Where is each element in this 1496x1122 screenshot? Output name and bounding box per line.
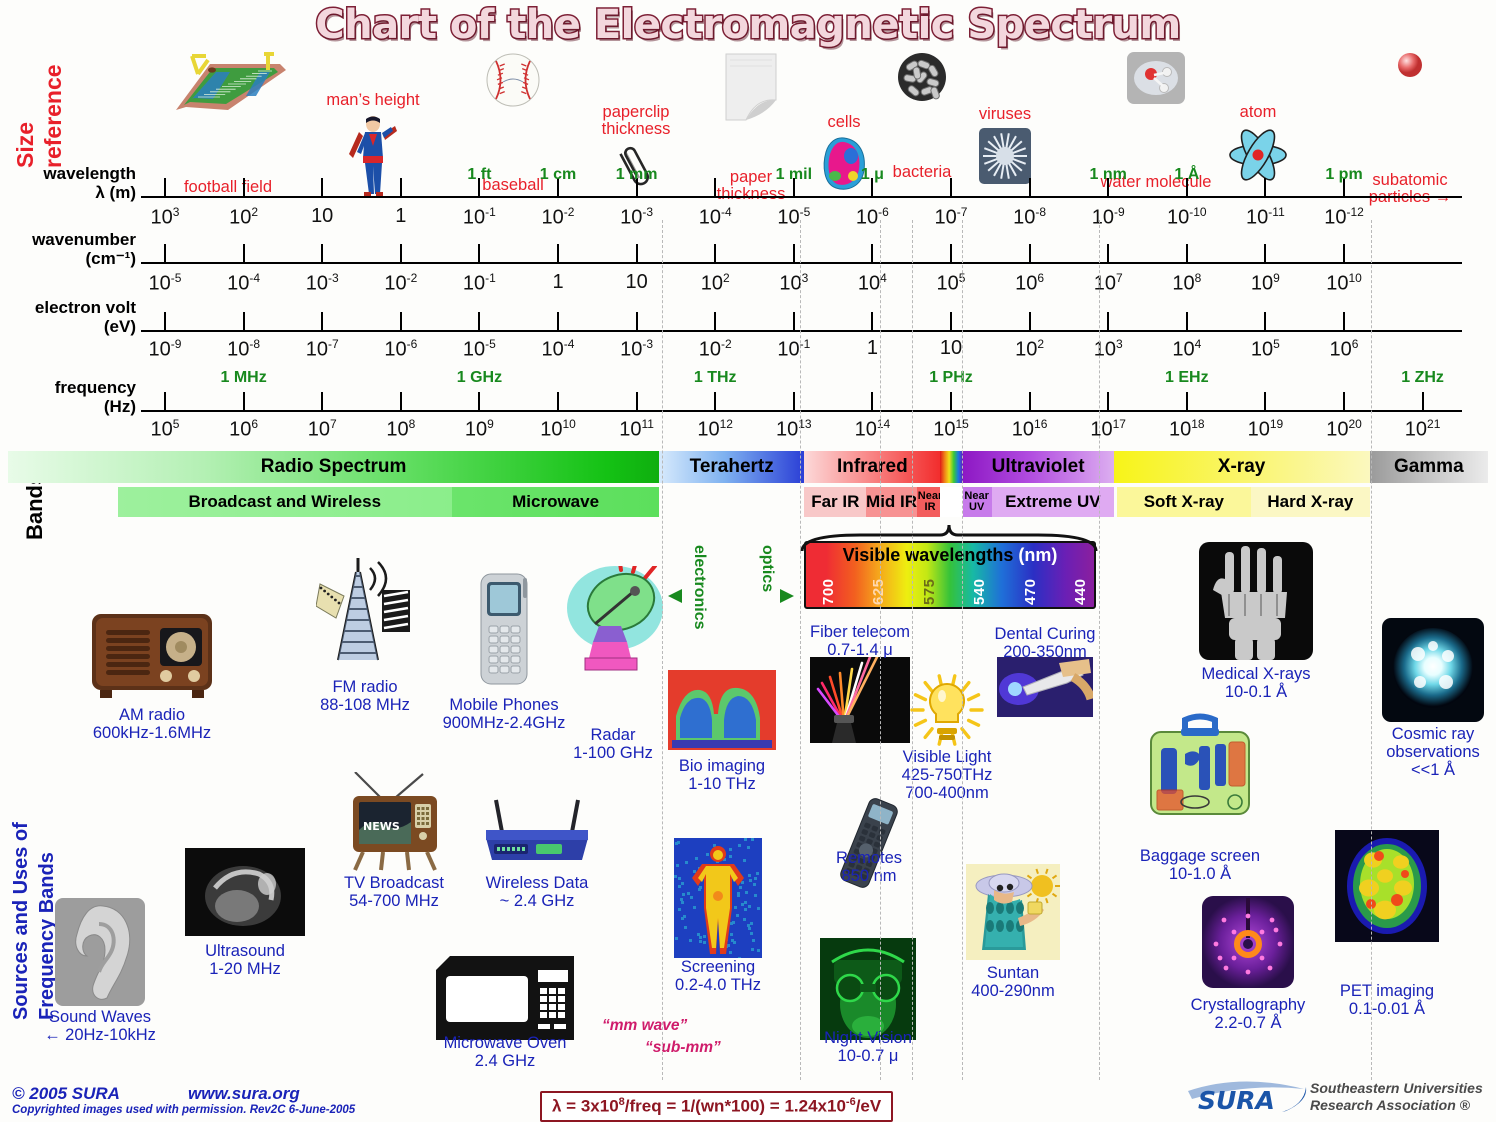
- band-boundary-dashed-line: [1099, 220, 1100, 1080]
- axis-tick: [636, 312, 638, 330]
- axis-tick-label: 10-3: [306, 271, 339, 296]
- band-far-ir[interactable]: Far IR: [804, 487, 866, 517]
- axis-tick-label: 1018: [1169, 417, 1205, 442]
- axis-tick: [1107, 392, 1109, 410]
- axis-tick-label: 10-1: [777, 337, 810, 362]
- axis-tick: [400, 392, 402, 410]
- bacteria-icon: [897, 52, 947, 107]
- vintage-radio-icon: [88, 604, 216, 707]
- axis-tick-label: 10: [940, 337, 962, 360]
- axis-tick-label: 10-8: [1013, 205, 1046, 230]
- sura-logo-text: Southeastern Universities Research Assoc…: [1310, 1080, 1483, 1114]
- axis-tick-label: 10-4: [699, 205, 732, 230]
- axis-tick: [1029, 244, 1031, 262]
- axis-tick: [1107, 244, 1109, 262]
- sura-logo-line1: Southeastern Universities: [1310, 1080, 1483, 1097]
- axis-tick-label: 10: [625, 271, 647, 294]
- size-reference-row: football fieldman’s heightbaseballpaperc…: [0, 44, 1496, 169]
- band-boundary-dashed-line: [912, 220, 913, 1080]
- axis-tick-label: 10-12: [1324, 205, 1364, 230]
- cosmic-burst-icon: [1382, 618, 1484, 727]
- water-molecule-icon: [1127, 52, 1185, 109]
- source-caption: AM radio600kHz-1.6MHz: [42, 706, 262, 742]
- axis-tick-label: 1010: [540, 417, 576, 442]
- television-icon: NEWS: [335, 772, 453, 877]
- satellite-dish-icon: [559, 566, 667, 681]
- axis-tick-label: 10-9: [1092, 205, 1125, 230]
- source-caption: PET imaging0.1-0.01 Å: [1277, 982, 1496, 1018]
- flip-phone-icon: [467, 572, 541, 693]
- annotation-sub-mm: “sub-mm”: [645, 1039, 721, 1057]
- size-reference-caption: atom: [1168, 104, 1348, 121]
- axis-tick-label: 1010: [1326, 271, 1362, 296]
- band-near-ir[interactable]: Near IR: [917, 487, 944, 517]
- unit-marker-1mil: 1 mil: [776, 166, 812, 184]
- band-radio-spectrum[interactable]: Radio Spectrum: [8, 451, 659, 483]
- band-gamma[interactable]: Gamma: [1370, 451, 1488, 483]
- axis-tick: [950, 392, 952, 410]
- axis-tick-label: 1016: [1012, 417, 1048, 442]
- axis-tick-label: 1015: [933, 417, 969, 442]
- band-extreme-uv[interactable]: Extreme UV: [992, 487, 1113, 517]
- band-hard-x-ray[interactable]: Hard X-ray: [1251, 487, 1369, 517]
- axis-tick-label: 105: [151, 417, 180, 442]
- svg-text:SURA: SURA: [1198, 1086, 1275, 1115]
- axis-tick-label: 10-3: [620, 337, 653, 362]
- unit-marker-1mhz: 1 MHz: [220, 369, 266, 387]
- axis-tick: [793, 392, 795, 410]
- source-caption: Medical X-rays10-0.1 Å: [1146, 665, 1366, 701]
- sunbather-icon: [966, 864, 1060, 965]
- axis-tick: [1343, 244, 1345, 262]
- axis-tick-label: 10: [311, 205, 333, 228]
- particle-icon: [1397, 52, 1423, 83]
- source-caption: Night Vision10-0.7 μ: [758, 1029, 978, 1065]
- footer-copyright: © 2005 SURA: [12, 1084, 120, 1104]
- axis-tick: [557, 392, 559, 410]
- visible-tick-575: 575: [921, 565, 938, 605]
- wifi-router-icon: [478, 798, 596, 871]
- axis-line-frequency: [141, 410, 1462, 412]
- axis-line-wavenumber: [141, 262, 1462, 264]
- band-visible-sliver-lower: [940, 487, 962, 517]
- axis-tick: [1186, 244, 1188, 262]
- axis-line-wavelength: [141, 196, 1462, 198]
- source-caption: Baggage screen10-1.0 Å: [1090, 847, 1310, 883]
- axis-label-wavelength: wavelengthλ (m): [0, 164, 136, 202]
- axis-tick: [478, 244, 480, 262]
- axis-tick-label: 10-4: [227, 271, 260, 296]
- axis-tick: [557, 244, 559, 262]
- unit-marker-1nm: 1 nm: [1090, 166, 1127, 184]
- band-broadcast-and-wireless[interactable]: Broadcast and Wireless: [118, 487, 452, 517]
- formula-box: λ = 3x108/freq = 1/(wn*100) = 1.24x10-6/…: [540, 1091, 893, 1122]
- source-caption: Microwave Oven2.4 GHz: [395, 1034, 615, 1070]
- axis-label-frequency: frequency(Hz): [0, 378, 136, 416]
- axis-tick: [164, 244, 166, 262]
- axis-tick: [1186, 392, 1188, 410]
- axis-tick: [478, 312, 480, 330]
- axis-tick: [243, 178, 245, 196]
- visible-tick-440: 440: [1072, 565, 1089, 605]
- axis-tick-label: 10-7: [306, 337, 339, 362]
- axis-tick-label: 106: [229, 417, 258, 442]
- axis-tick: [1264, 244, 1266, 262]
- atom-icon: [1227, 126, 1289, 189]
- axis-tick-label: 10-2: [542, 205, 575, 230]
- footer-website[interactable]: www.sura.org: [188, 1084, 300, 1104]
- size-reference-caption: paperclipthickness: [546, 104, 726, 138]
- axis-tick-label: 10-5: [463, 337, 496, 362]
- axis-tick-label: 1: [395, 205, 406, 228]
- axis-tick: [400, 312, 402, 330]
- axis-tick-label: 10-11: [1246, 205, 1285, 230]
- sura-logo-icon: SURA: [1186, 1073, 1311, 1115]
- axis-tick-label: 1014: [855, 417, 891, 442]
- axis-tick: [714, 244, 716, 262]
- axis-tick: [1264, 312, 1266, 330]
- pet-brain-scan-icon: [1335, 830, 1439, 947]
- annotation-electronics: electronics: [690, 545, 708, 629]
- axis-tick-label: 103: [779, 271, 808, 296]
- dental-curing-light-icon: [997, 657, 1093, 722]
- visible-tick-470: 470: [1022, 565, 1039, 605]
- unit-marker-1zhz: 1 ZHz: [1401, 369, 1444, 387]
- fiber-optic-icon: [810, 657, 910, 748]
- unit-marker-1: 1 Å: [1174, 166, 1199, 184]
- axis-tick-label: 102: [1015, 337, 1044, 362]
- axis-tick-label: 1013: [776, 417, 812, 442]
- axis-tick-label: 10-4: [542, 337, 575, 362]
- band-terahertz[interactable]: Terahertz: [659, 451, 804, 483]
- axis-tick: [1029, 312, 1031, 330]
- axis-tick: [321, 392, 323, 410]
- source-caption: Dental Curing200-350nm: [935, 625, 1155, 661]
- unit-marker-1ehz: 1 EHz: [1165, 369, 1209, 387]
- axis-tick: [164, 392, 166, 410]
- axis-tick: [1029, 392, 1031, 410]
- axis-tick-label: 10-6: [856, 205, 889, 230]
- visible-tick-700: 700: [820, 565, 837, 605]
- axis-tick-label: 10-3: [620, 205, 653, 230]
- band-boundary-dashed-line: [662, 220, 663, 1080]
- baseball-icon: [485, 52, 541, 113]
- axis-tick-label: 1011: [619, 417, 654, 442]
- size-reference-caption: viruses: [915, 106, 1095, 123]
- axis-tick: [321, 312, 323, 330]
- axis-label-wavenumber: wavenumber(cm⁻¹): [0, 230, 136, 268]
- axis-tick-label: 10-10: [1167, 205, 1207, 230]
- axis-tick: [871, 244, 873, 262]
- source-caption: Wireless Data~ 2.4 GHz: [427, 874, 647, 910]
- axis-tick-label: 103: [151, 205, 180, 230]
- axis-tick: [950, 178, 952, 196]
- axis-tick-label: 10-2: [699, 337, 732, 362]
- axis-tick: [1264, 178, 1266, 196]
- band-infrared[interactable]: Infrared: [804, 451, 940, 483]
- page-title: Chart of the Electromagnetic Spectrum: [0, 2, 1496, 48]
- axis-tick: [164, 178, 166, 196]
- source-caption: Cosmic rayobservations<<1 Å: [1323, 725, 1496, 779]
- axis-tick-label: 107: [308, 417, 337, 442]
- axis-tick: [164, 312, 166, 330]
- light-bulb-icon: [907, 672, 987, 757]
- axis-tick: [1029, 178, 1031, 196]
- sura-logo-line2: Research Association ®: [1310, 1097, 1483, 1114]
- source-caption: Suntan400-290nm: [903, 964, 1123, 1000]
- axis-tick: [1186, 312, 1188, 330]
- axis-tick-label: 104: [858, 271, 887, 296]
- visible-brace-icon: [800, 523, 1100, 553]
- band-mid-ir[interactable]: Mid IR: [866, 487, 916, 517]
- size-reference-caption: cells: [754, 114, 934, 131]
- axis-tick: [400, 178, 402, 196]
- axis-tick-label: 10-9: [149, 337, 182, 362]
- axis-tick: [950, 244, 952, 262]
- axis-tick: [243, 312, 245, 330]
- axis-tick: [1107, 312, 1109, 330]
- axis-tick-label: 109: [1251, 271, 1280, 296]
- football-field-icon: [168, 52, 288, 119]
- axis-tick: [1343, 312, 1345, 330]
- axis-tick: [400, 244, 402, 262]
- axis-tick: [243, 244, 245, 262]
- hand-xray-icon: [1199, 542, 1313, 665]
- body-scan-icon: [674, 838, 762, 963]
- axis-tick: [636, 392, 638, 410]
- axis-tick: [478, 392, 480, 410]
- axis-tick: [1264, 392, 1266, 410]
- axis-tick: [557, 312, 559, 330]
- axis-tick-label: 10-5: [149, 271, 182, 296]
- axis-tick: [243, 392, 245, 410]
- axis-tick: [871, 312, 873, 330]
- size-reference-caption: man’s height: [283, 92, 463, 109]
- axis-tick-label: 1017: [1090, 417, 1126, 442]
- axis-tick-label: 10-1: [463, 271, 496, 296]
- unit-marker-1ghz: 1 GHz: [457, 369, 502, 387]
- axis-tick: [793, 244, 795, 262]
- suitcase-xray-icon: [1143, 710, 1257, 827]
- diffraction-pattern-icon: [1202, 896, 1294, 993]
- axis-tick-label: 1: [867, 337, 878, 360]
- visible-tick-625: 625: [870, 565, 887, 605]
- optics-arrow-right-icon: [778, 588, 794, 604]
- unit-marker-1pm: 1 pm: [1325, 166, 1362, 184]
- axis-tick: [714, 392, 716, 410]
- axis-tick: [1343, 392, 1345, 410]
- axis-line-electron-volt: [141, 330, 1462, 332]
- source-caption: Screening0.2-4.0 THz: [608, 958, 828, 994]
- axis-tick: [714, 312, 716, 330]
- axis-tick: [321, 178, 323, 196]
- source-caption: Remotes850 nm: [759, 849, 979, 885]
- axis-tick-label: 102: [229, 205, 258, 230]
- axis-tick-label: 1012: [697, 417, 733, 442]
- axis-tick-label: 102: [701, 271, 730, 296]
- radio-tower-icon: [316, 556, 414, 669]
- axis-tick-label: 10-6: [384, 337, 417, 362]
- axis-tick-label: 10-5: [777, 205, 810, 230]
- unit-marker-1phz: 1 PHz: [929, 369, 973, 387]
- band-boundary-dashed-line: [962, 220, 963, 1080]
- band-microwave[interactable]: Microwave: [452, 487, 659, 517]
- source-caption: Ultrasound1-20 MHz: [135, 942, 355, 978]
- axis-tick-label: 108: [1172, 271, 1201, 296]
- ear-icon: [55, 898, 145, 1011]
- axis-tick-label: 106: [1015, 271, 1044, 296]
- band-ultraviolet[interactable]: Ultraviolet: [963, 451, 1114, 483]
- row-label-sources-1: Sources and Uses of: [10, 822, 33, 1020]
- band-near-uv[interactable]: Near UV: [961, 487, 992, 517]
- thz-teeth-scan-icon: [668, 670, 776, 755]
- annotation-mm-wave: “mm wave”: [602, 1017, 687, 1035]
- axis-tick-label: 109: [465, 417, 494, 442]
- source-caption: Visible Light425-750THz700-400nm: [837, 748, 1057, 802]
- band-soft-x-ray[interactable]: Soft X-ray: [1117, 487, 1252, 517]
- axis-tick-label: 1020: [1326, 417, 1362, 442]
- unit-marker-1mm: 1 mm: [616, 166, 658, 184]
- electronics-arrow-left-icon: [668, 588, 684, 604]
- axis-tick: [950, 312, 952, 330]
- axis-tick: [871, 392, 873, 410]
- axis-tick: [793, 312, 795, 330]
- band-boundary-dashed-line: [880, 220, 881, 1080]
- axis-tick: [1422, 392, 1424, 410]
- axis-tick-label: 108: [386, 417, 415, 442]
- axis-tick-label: 10-8: [227, 337, 260, 362]
- unit-marker-1thz: 1 THz: [694, 369, 737, 387]
- annotation-optics: optics: [758, 545, 776, 592]
- footer-fineprint: Copyrighted images used with permission.…: [12, 1104, 355, 1116]
- axis-tick-label: 104: [1172, 337, 1201, 362]
- band-x-ray[interactable]: X-ray: [1114, 451, 1370, 483]
- axis-tick-label: 1021: [1405, 417, 1441, 442]
- band-boundary-dashed-line: [1371, 220, 1372, 1080]
- virus-icon: [979, 128, 1031, 189]
- band-visible-sliver: [940, 451, 962, 483]
- source-caption: Sound Waves← 20Hz-10kHz: [0, 1008, 210, 1044]
- unit-marker-1ft: 1 ft: [467, 166, 491, 184]
- svg-text:NEWS: NEWS: [363, 820, 400, 833]
- visible-tick-540: 540: [971, 565, 988, 605]
- unit-marker-1: 1 μ: [861, 166, 884, 184]
- axis-tick: [714, 178, 716, 196]
- source-caption: Bio imaging1-10 THz: [612, 757, 832, 793]
- axis-tick: [636, 244, 638, 262]
- axis-tick-label: 1019: [1248, 417, 1284, 442]
- superhero-icon: [347, 114, 399, 203]
- axis-tick-label: 10-2: [384, 271, 417, 296]
- axis-tick: [321, 244, 323, 262]
- axis-tick-label: 106: [1330, 337, 1359, 362]
- axis-tick-label: 10-1: [463, 205, 496, 230]
- unit-marker-1cm: 1 cm: [540, 166, 576, 184]
- band-boundary-dashed-line: [800, 220, 801, 1080]
- axis-tick-label: 1: [552, 271, 563, 294]
- axis-label-electron-volt: electron volt(eV): [0, 298, 136, 336]
- axis-tick-label: 105: [1251, 337, 1280, 362]
